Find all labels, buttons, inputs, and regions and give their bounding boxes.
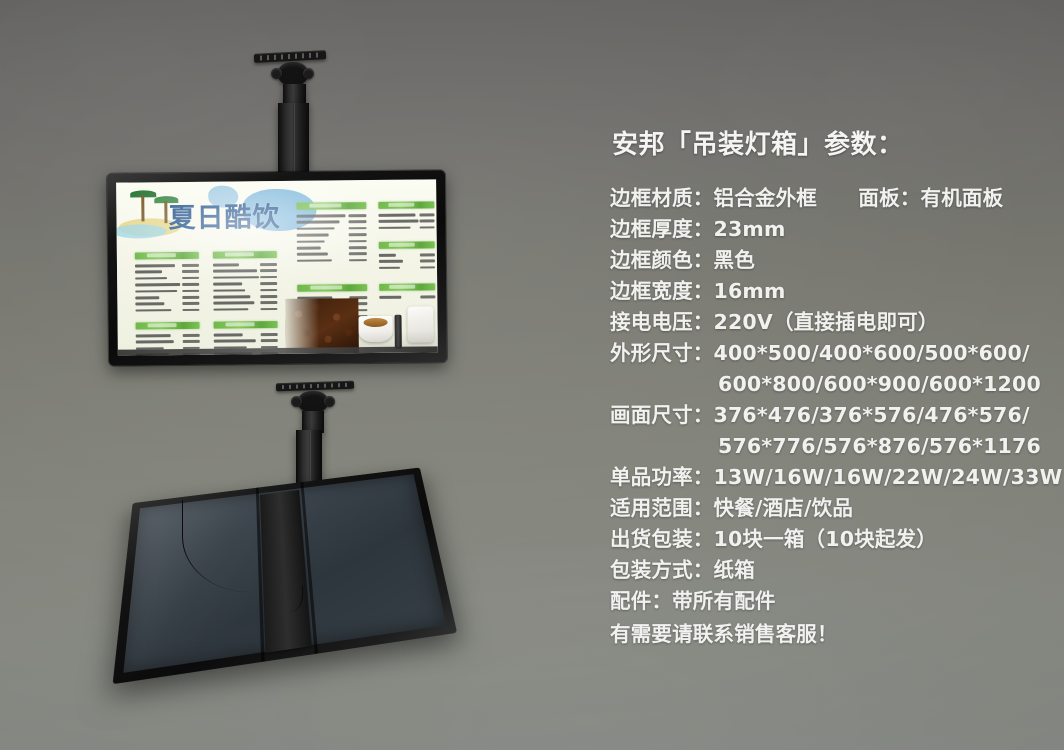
spec-line-picture-size-continued: 576*776/576*876/576*1176 <box>610 431 1040 462</box>
spec-line-frame-material: 边框材质：铝合金外框 面板：有机面板 <box>610 183 1040 214</box>
spec-line-packing-method: 包装方式：纸箱 <box>610 555 1040 586</box>
spec-line-frame-width: 边框宽度：16mm <box>610 276 1040 307</box>
spec-line-accessories: 配件：带所有配件 <box>610 586 1040 617</box>
spec-line-voltage: 接电电压：220V（直接插电即可） <box>610 307 1040 338</box>
spec-line-frame-thickness: 边框厚度：23mm <box>610 214 1040 245</box>
product-rear-view <box>0 0 520 750</box>
spec-line-frame-color: 边框颜色：黑色 <box>610 245 1040 276</box>
specification-panel: 安邦「吊装灯箱」参数： 边框材质：铝合金外框 面板：有机面板 边框厚度：23mm… <box>610 124 1040 650</box>
spec-line-outer-size: 外形尺寸：400*500/400*600/500*600/ <box>610 338 1040 369</box>
spec-line-contact: 有需要请联系销售客服！ <box>610 619 1040 650</box>
spec-line-application: 适用范围：快餐/酒店/饮品 <box>610 493 1040 524</box>
spec-line-packing: 出货包装：10块一箱（10块起发） <box>610 524 1040 555</box>
ceiling-plate-bottom-icon <box>276 381 354 392</box>
spec-panel-title: 安邦「吊装灯箱」参数： <box>612 124 1040 161</box>
product-image-canvas: 夏日酷饮 <box>0 0 1064 750</box>
spec-line-power: 单品功率：13W/16W/16W/22W/24W/33W <box>610 462 1040 493</box>
spec-line-picture-size: 画面尺寸：376*476/376*576/476*576/ <box>610 400 1040 431</box>
joint-knob-bottom-left-icon <box>291 396 302 407</box>
joint-knob-bottom-right-icon <box>324 396 335 407</box>
spec-line-outer-size-continued: 600*800/600*900/600*1200 <box>610 369 1040 400</box>
